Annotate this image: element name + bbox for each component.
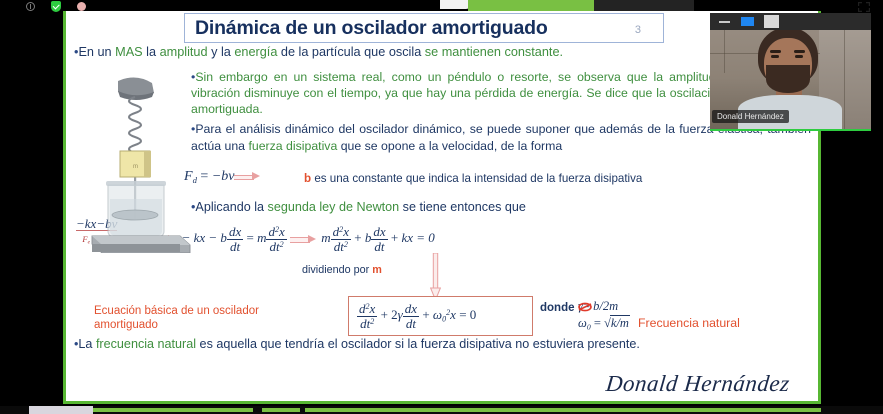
presentation-slide: Dinámica de un oscilador amortiguado 3 •…	[63, 11, 821, 404]
b1-seg-1: MAS	[115, 45, 143, 59]
shield-check-icon[interactable]	[51, 1, 61, 12]
participant-name-label: Donald Hernández	[712, 110, 789, 123]
person-beard	[766, 65, 810, 93]
taskbar-segment[interactable]	[305, 408, 821, 412]
taskbar-active-item[interactable]	[29, 406, 93, 414]
dark-toolbar-strip	[594, 0, 694, 11]
bullet-5: •La frecuencia natural es aquella que te…	[74, 336, 814, 352]
wall-line	[844, 13, 845, 131]
person-brow-left	[770, 50, 781, 53]
screen-root: Dinámica de un oscilador amortiguado 3 •…	[0, 0, 883, 414]
page-title: Dinámica de un oscilador amortiguado	[195, 17, 548, 40]
pink-dot-icon[interactable]	[77, 2, 86, 11]
bullet-4: •Aplicando la segunda ley de Newton se t…	[191, 199, 791, 215]
video-window-controls	[710, 13, 871, 30]
b1-seg-4: y la	[208, 45, 235, 59]
dividing-label-text: dividiendo por	[302, 264, 372, 276]
bottom-taskbar	[0, 406, 883, 414]
arrow-down-icon	[430, 253, 441, 301]
bullet-3-highlight: fuerza disipativa	[248, 139, 337, 153]
bullet-4-tail: se tiene entonces que	[399, 200, 526, 214]
omega-definition: ω0 = √k/m	[578, 316, 630, 331]
dividing-label: dividiendo por m	[302, 264, 382, 276]
taskbar-segment[interactable]	[93, 408, 253, 412]
bullet-2: •Sin embargo en un sistema real, como un…	[191, 69, 751, 117]
signature: Donald Hernández	[605, 371, 791, 397]
arrow-right-icon	[234, 172, 262, 181]
maximize-icon[interactable]	[741, 17, 754, 26]
bullet-4-highlight: segunda ley de Newton	[268, 200, 400, 214]
participant-video-panel[interactable]: Donald Hernández	[710, 13, 871, 131]
close-icon[interactable]	[764, 15, 779, 28]
equation-caption: Ecuación básica de un oscilador amortigu…	[94, 304, 264, 332]
annotation-scribble-icon	[578, 301, 594, 313]
bullet-2-text: Sin embargo en un sistema real, como un …	[191, 70, 751, 116]
b1-seg-5: energía	[234, 45, 277, 59]
arrow-right-icon	[290, 235, 318, 244]
person-brow-right	[794, 50, 805, 53]
dividing-label-m: m	[372, 264, 382, 276]
app-tab[interactable]	[440, 0, 470, 9]
equation-fd: Fd = −bv	[184, 169, 262, 185]
boxed-equation: d2xdt2 + 2γdxdt + ω02x = 0	[348, 296, 533, 336]
b1-seg-3: amplitud	[160, 45, 208, 59]
b1-seg-2: la	[143, 45, 160, 59]
b1-seg-6: de la partícula que oscila	[277, 45, 424, 59]
bullet-4-lead: Aplicando la	[195, 200, 267, 214]
taskbar-segment[interactable]	[262, 408, 300, 412]
bullet-5-highlight: frecuencia natural	[96, 337, 196, 351]
green-accent-strip	[468, 0, 594, 11]
slide-title-box: Dinámica de un oscilador amortiguado 3	[184, 13, 664, 43]
b1-seg-7: se mantienen constante.	[425, 45, 563, 59]
info-icon[interactable]	[26, 2, 35, 11]
slide-number: 3	[635, 24, 641, 36]
bullet-5-tail: es aquella que tendría el oscilador si l…	[196, 337, 640, 351]
svg-text:m: m	[133, 164, 138, 170]
minimize-icon[interactable]	[719, 21, 730, 23]
frecuencia-natural-label: Frecuencia natural	[638, 316, 740, 330]
bullet-1: •En un MAS la amplitud y la energía de l…	[74, 44, 774, 60]
boxed-equation-content: d2xdt2 + 2γdxdt + ω02x = 0	[357, 302, 476, 330]
left-gutter	[0, 12, 63, 406]
bullet-3-tail: que se opone a la velocidad, de la forma	[337, 139, 562, 153]
b1-seg-0: En un	[78, 45, 115, 59]
damped-oscillator-apparatus-image: m	[78, 73, 194, 253]
expand-fullscreen-icon[interactable]	[857, 1, 871, 13]
donde-label: donde	[540, 302, 575, 314]
fd-note: b es una constante que indica la intensi…	[304, 172, 642, 185]
person-eye-right	[795, 55, 803, 58]
bullet-5-lead: La	[78, 337, 96, 351]
person-eye-left	[771, 55, 779, 58]
fd-note-text: es una constante que indica la intensida…	[311, 172, 642, 185]
